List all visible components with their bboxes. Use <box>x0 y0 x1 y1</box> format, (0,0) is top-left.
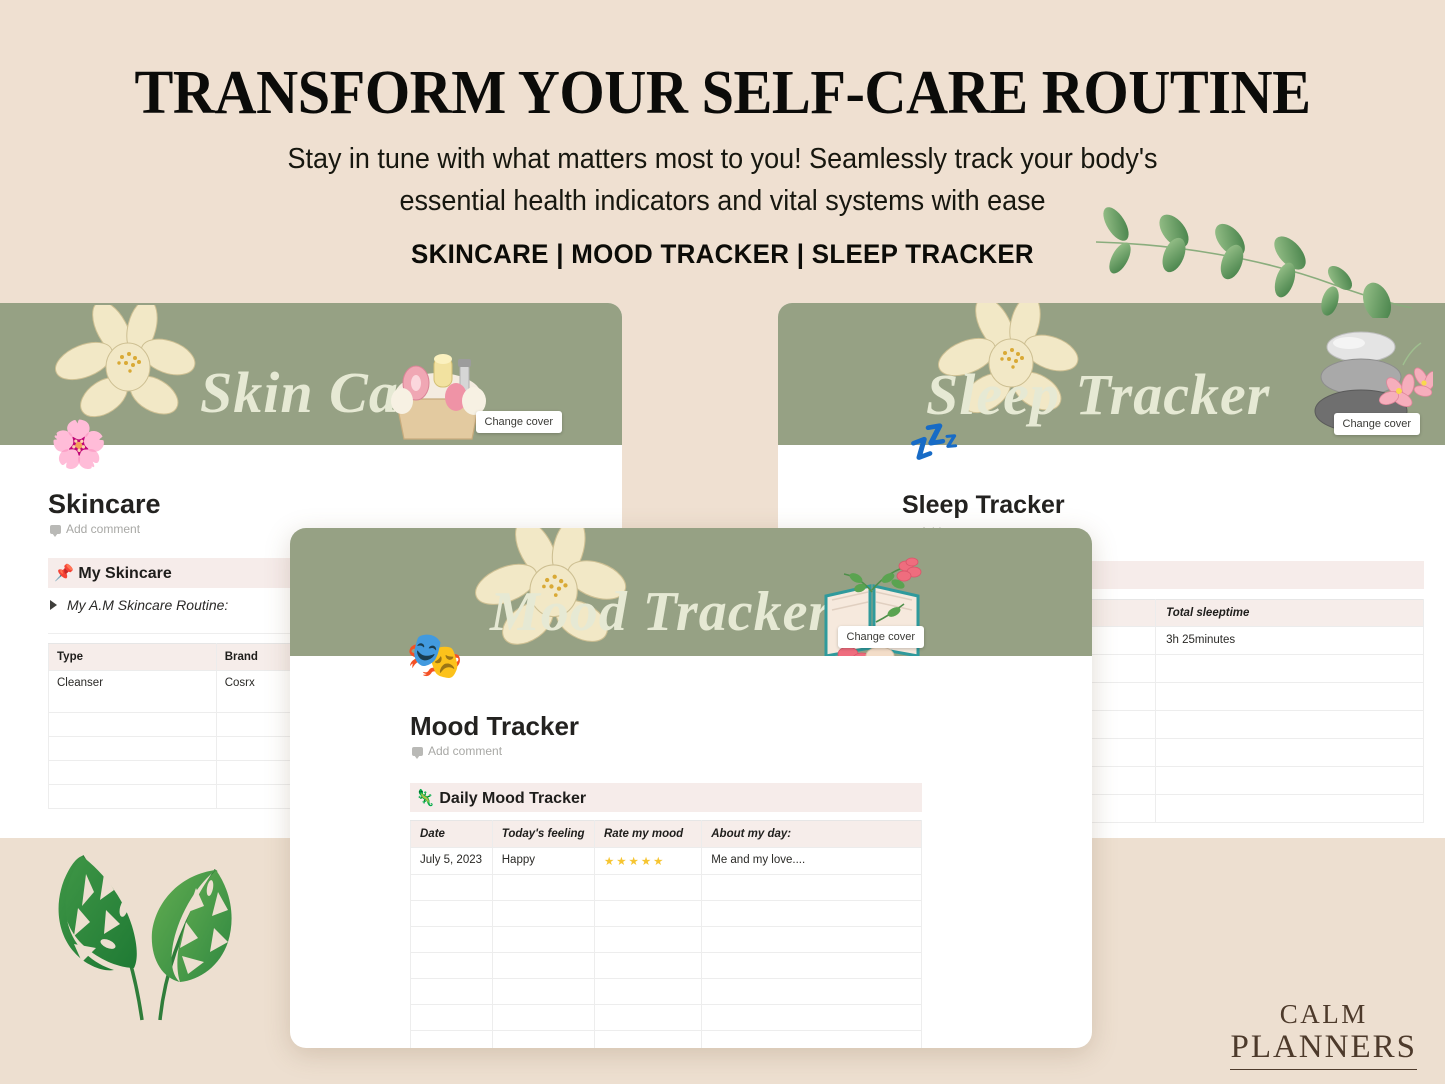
table-cell[interactable] <box>411 953 493 979</box>
change-cover-button-mood[interactable]: Change cover <box>838 626 925 648</box>
table-cell[interactable]: Me and my love.... <box>702 848 922 875</box>
table-cell[interactable] <box>594 901 701 927</box>
table-cell[interactable] <box>411 901 493 927</box>
table-cell[interactable] <box>1156 767 1424 795</box>
skincare-cover-script: Skin Care <box>200 359 449 426</box>
table-cell[interactable] <box>594 1005 701 1031</box>
zzz-icon: 💤 <box>908 421 960 463</box>
table-cell[interactable]: ★★★★★ <box>594 848 701 875</box>
table-cell[interactable] <box>492 1031 594 1049</box>
table-cell[interactable] <box>411 1031 493 1049</box>
table-row[interactable] <box>411 1005 922 1031</box>
table-cell[interactable] <box>1156 739 1424 767</box>
table-cell[interactable]: July 5, 2023 <box>411 848 493 875</box>
table-cell[interactable] <box>492 875 594 901</box>
table-cell[interactable] <box>1156 711 1424 739</box>
skincare-add-comment[interactable]: Add comment <box>50 522 140 536</box>
table-cell[interactable] <box>49 761 217 785</box>
table-cell[interactable] <box>411 979 493 1005</box>
mood-table[interactable]: DateToday's feelingRate my moodAbout my … <box>410 820 922 1048</box>
table-cell[interactable] <box>594 1031 701 1049</box>
table-cell[interactable] <box>702 953 922 979</box>
table-cell[interactable]: Cleanser <box>49 671 217 713</box>
table-cell[interactable] <box>492 979 594 1005</box>
hero-subtitle: Stay in tune with what matters most to y… <box>51 138 1395 223</box>
table-cell[interactable] <box>49 737 217 761</box>
table-row[interactable] <box>411 953 922 979</box>
skincare-page-title: Skincare <box>48 489 161 520</box>
skincare-toggle-row[interactable]: My A.M Skincare Routine: <box>50 597 228 613</box>
mood-section-header: 🦎 Daily Mood Tracker <box>410 783 922 812</box>
table-cell[interactable] <box>594 979 701 1005</box>
table-cell[interactable] <box>702 979 922 1005</box>
table-cell[interactable] <box>1156 683 1424 711</box>
table-cell[interactable] <box>702 875 922 901</box>
table-cell[interactable] <box>1156 795 1424 823</box>
performing-arts-masks-icon: 🎭 <box>406 632 463 678</box>
skincare-toggle-label: My A.M Skincare Routine: <box>67 597 228 613</box>
brand-logo: CALM PLANNERS <box>1230 999 1417 1070</box>
table-header-row: DateToday's feelingRate my moodAbout my … <box>411 821 922 848</box>
change-cover-button-skincare[interactable]: Change cover <box>476 411 563 433</box>
table-cell[interactable] <box>702 927 922 953</box>
table-cell[interactable] <box>411 1005 493 1031</box>
hero-feature-tags: SKINCARE | MOOD TRACKER | SLEEP TRACKER <box>29 239 1416 270</box>
magnolia-flower-icon <box>40 305 200 435</box>
table-cell[interactable] <box>594 953 701 979</box>
table-row[interactable] <box>411 875 922 901</box>
sleep-cover-script: Sleep Tracker <box>926 361 1270 428</box>
comment-icon <box>412 747 423 756</box>
table-cell[interactable] <box>49 713 217 737</box>
mood-page-title: Mood Tracker <box>410 711 579 742</box>
skincare-add-comment-label: Add comment <box>66 522 140 536</box>
table-row[interactable] <box>411 901 922 927</box>
hero-section: TRANSFORM YOUR SELF-CARE ROUTINE Stay in… <box>0 0 1445 300</box>
page-title: TRANSFORM YOUR SELF-CARE ROUTINE <box>43 62 1401 124</box>
table-cell[interactable] <box>594 875 701 901</box>
table-cell[interactable] <box>1156 655 1424 683</box>
column-header[interactable]: Total sleeptime <box>1156 600 1424 627</box>
cherry-blossom-icon: 🌸 <box>50 421 107 467</box>
hero-subtitle-line2: essential health indicators and vital sy… <box>51 180 1395 222</box>
table-cell[interactable] <box>594 927 701 953</box>
mood-cover-script: Mood Tracker <box>490 580 831 644</box>
table-cell[interactable] <box>702 1031 922 1049</box>
table-cell[interactable] <box>492 927 594 953</box>
column-header[interactable]: Today's feeling <box>492 821 594 848</box>
table-cell[interactable] <box>49 785 217 809</box>
column-header[interactable]: Date <box>411 821 493 848</box>
mood-add-comment[interactable]: Add comment <box>412 744 502 758</box>
mood-add-comment-label: Add comment <box>428 744 502 758</box>
hero-subtitle-line1: Stay in tune with what matters most to y… <box>51 138 1395 180</box>
table-cell[interactable] <box>702 1005 922 1031</box>
table-cell[interactable] <box>411 875 493 901</box>
mood-tracker-panel[interactable]: Mood Tracker <box>290 528 1092 1048</box>
table-row[interactable] <box>411 1031 922 1049</box>
column-header[interactable]: About my day: <box>702 821 922 848</box>
brand-line-1: CALM <box>1230 999 1417 1030</box>
table-cell[interactable]: 3h 25minutes <box>1156 627 1424 655</box>
table-row[interactable] <box>411 979 922 1005</box>
column-header[interactable]: Type <box>49 644 217 671</box>
table-cell[interactable] <box>411 927 493 953</box>
chevron-right-icon[interactable] <box>50 600 57 610</box>
change-cover-button-sleep[interactable]: Change cover <box>1334 413 1421 435</box>
table-cell[interactable] <box>492 1005 594 1031</box>
table-cell[interactable] <box>492 953 594 979</box>
comment-icon <box>50 525 61 534</box>
table-cell[interactable] <box>702 901 922 927</box>
sleep-page-title: Sleep Tracker <box>902 491 1065 520</box>
column-header[interactable]: Rate my mood <box>594 821 701 848</box>
mood-star-rating[interactable]: ★★★★★ <box>604 856 666 868</box>
brand-line-2: PLANNERS <box>1230 1029 1417 1070</box>
table-row[interactable] <box>411 927 922 953</box>
table-cell[interactable]: Happy <box>492 848 594 875</box>
sleep-cover[interactable]: Sleep Tracker <box>778 303 1445 445</box>
table-cell[interactable] <box>492 901 594 927</box>
table-row[interactable]: July 5, 2023Happy★★★★★Me and my love.... <box>411 848 922 875</box>
